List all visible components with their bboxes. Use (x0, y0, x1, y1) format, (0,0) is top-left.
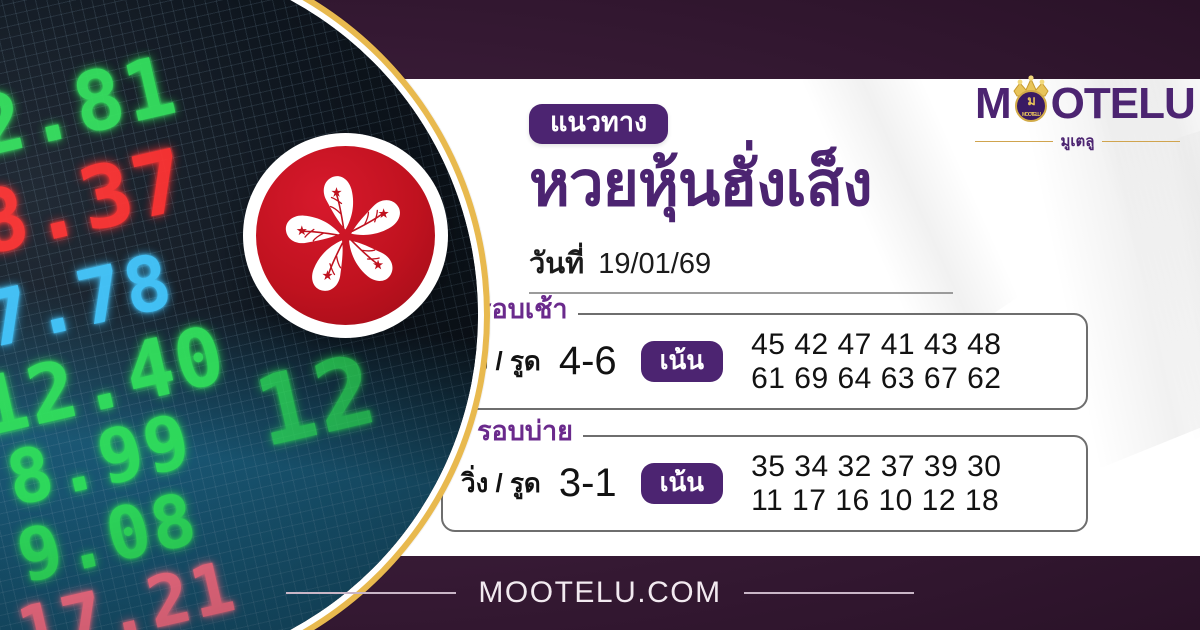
picks-line-2: 11 17 16 10 12 18 (751, 484, 1001, 518)
logo-rule-left (975, 141, 1053, 142)
hong-kong-flag-badge (243, 133, 448, 338)
logo-subtitle: มูเตลู (975, 133, 1180, 149)
logo-wordmark: MOTELU ม MOOTELU (975, 82, 1180, 126)
crown-crest-icon: ม MOOTELU (1007, 74, 1055, 124)
footer-bar: MOOTELU.COM (0, 556, 1200, 630)
picks-line-1: 45 42 47 41 43 48 (751, 328, 1001, 362)
banner-canvas: 2.81 8.37 7.78 12.40 8.99 9.08 17.21 1.3… (0, 0, 1200, 630)
logo-subtitle-th: มูเตลู (1061, 134, 1095, 149)
emphasis-badge-morning: เน้น (641, 341, 723, 382)
run-value-morning: 4-6 (559, 339, 617, 384)
svg-text:ม: ม (1027, 93, 1035, 108)
guidance-tag: แนวทาง (529, 104, 668, 144)
picks-line-2: 61 69 64 63 67 62 (751, 362, 1001, 396)
date-value: 19/01/69 (598, 248, 711, 280)
run-value-afternoon: 3-1 (559, 461, 617, 506)
page-title: หวยหุ้นฮั่งเส็ง (529, 152, 872, 219)
round-card-morning: รอบเช้า วิ่ง / รูด 4-6 เน้น 45 42 47 41 … (441, 313, 1088, 410)
date-line: วันที่19/01/69 (529, 240, 953, 294)
svg-text:MOOTELU: MOOTELU (1022, 112, 1041, 118)
picks-line-1: 35 34 32 37 39 30 (751, 450, 1001, 484)
picks-afternoon: 35 34 32 37 39 30 11 17 16 10 12 18 (751, 450, 1001, 517)
picks-morning: 45 42 47 41 43 48 61 69 64 63 67 62 (751, 328, 1001, 395)
footer-site-url[interactable]: MOOTELU.COM (478, 576, 721, 610)
emphasis-badge-afternoon: เน้น (641, 463, 723, 504)
logo-text-left: M (975, 79, 1011, 128)
round-card-afternoon: รอบบ่าย วิ่ง / รูด 3-1 เน้น 35 34 32 37 … (441, 435, 1088, 532)
date-label: วันที่ (529, 248, 584, 280)
mootelu-logo[interactable]: MOTELU ม MOOTELU มูเตลู (975, 82, 1180, 154)
footer-rule-left (286, 592, 456, 594)
logo-rule-right (1102, 141, 1180, 142)
logo-text-right: OTELU (1051, 79, 1195, 128)
hong-kong-flag-icon (256, 146, 435, 325)
footer-rule-right (744, 592, 914, 594)
